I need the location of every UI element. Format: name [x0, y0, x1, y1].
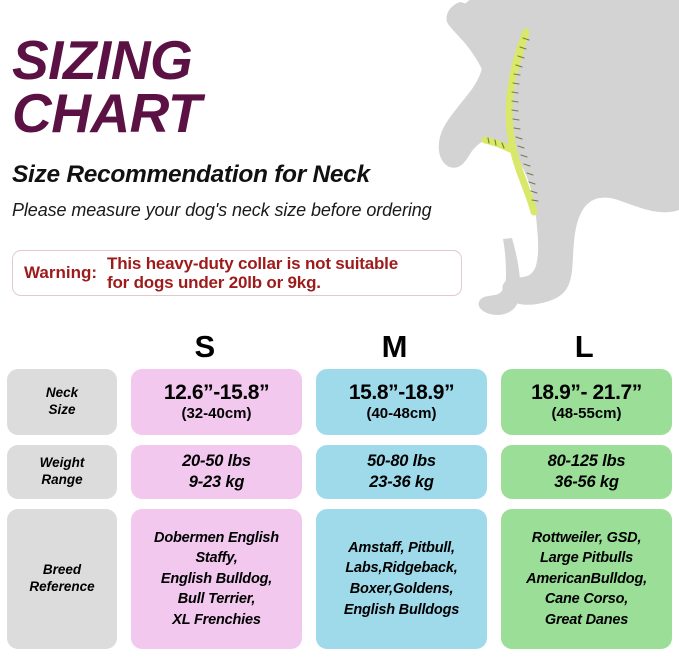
- sizing-table: Neck Size 12.6”-15.8” (32-40cm) 15.8”-18…: [0, 369, 679, 659]
- size-header-spacer: [0, 331, 110, 365]
- weight-m-kg: 23-36 kg: [369, 472, 433, 493]
- measuring-tape-icon: [485, 32, 538, 212]
- table-row-breed-reference: Breed Reference Dobermen English Staffy,…: [0, 509, 679, 649]
- page-subtitle: Size Recommendation for Neck: [12, 161, 482, 189]
- breed-s-line-4: Bull Terrier,: [178, 589, 255, 610]
- breed-s-line-5: XL Frenchies: [172, 610, 260, 631]
- sizing-chart-page: SIZING CHART Size Recommendation for Nec…: [0, 0, 679, 672]
- breed-l-line-3: AmericanBulldog,: [526, 569, 647, 590]
- page-title-line2: CHART: [12, 87, 482, 140]
- breed-s-line-2: Staffy,: [195, 548, 237, 569]
- neck-size-l-inches: 18.9”- 21.7”: [531, 382, 642, 404]
- row-label-breed-line2: Reference: [29, 579, 94, 596]
- size-header-l: L: [496, 331, 672, 365]
- page-header: SIZING CHART Size Recommendation for Nec…: [12, 34, 482, 221]
- weight-l-kg: 36-56 kg: [554, 472, 618, 493]
- breed-m-line-2: Labs,Ridgeback,: [345, 558, 457, 579]
- table-row-weight-range: Weight Range 20-50 lbs 9-23 kg 50-80 lbs…: [0, 445, 679, 499]
- neck-size-m-inches: 15.8”-18.9”: [349, 382, 454, 404]
- weight-s-lbs: 20-50 lbs: [182, 451, 251, 472]
- cell-neck-size-m: 15.8”-18.9” (40-48cm): [316, 369, 487, 435]
- breed-l-line-1: Rottweiler, GSD,: [532, 528, 642, 549]
- breed-l-line-2: Large Pitbulls: [540, 548, 633, 569]
- breed-m-line-3: Boxer,Goldens,: [350, 579, 454, 600]
- breed-l-line-5: Great Danes: [545, 610, 628, 631]
- neck-size-s-inches: 12.6”-15.8”: [164, 382, 269, 404]
- breed-m-line-1: Amstaff, Pitbull,: [348, 538, 455, 559]
- cell-weight-range-s: 20-50 lbs 9-23 kg: [131, 445, 302, 499]
- row-label-weight-line1: Weight: [40, 455, 85, 472]
- measure-instruction-text: Please measure your dog's neck size befo…: [12, 200, 482, 221]
- size-header-m: M: [307, 331, 483, 365]
- cell-neck-size-l: 18.9”- 21.7” (48-55cm): [501, 369, 672, 435]
- row-label-breed-reference: Breed Reference: [7, 509, 117, 649]
- row-label-weight-line2: Range: [40, 472, 85, 489]
- warning-message-line2: for dogs under 20lb or 9kg.: [107, 273, 398, 292]
- cell-neck-size-s: 12.6”-15.8” (32-40cm): [131, 369, 302, 435]
- table-row-neck-size: Neck Size 12.6”-15.8” (32-40cm) 15.8”-18…: [0, 369, 679, 435]
- warning-message: This heavy-duty collar is not suitable f…: [107, 254, 398, 292]
- breed-s-line-1: Dobermen English: [154, 528, 279, 549]
- warning-message-line1: This heavy-duty collar is not suitable: [107, 254, 398, 273]
- size-header-s: S: [117, 331, 293, 365]
- neck-size-m-cm: (40-48cm): [366, 405, 436, 422]
- breed-s-line-3: English Bulldog,: [161, 569, 272, 590]
- size-header-row: S M L: [0, 331, 679, 365]
- page-title-line1: SIZING: [12, 34, 482, 87]
- row-label-weight-range: Weight Range: [7, 445, 117, 499]
- row-label-neck-line1: Neck: [46, 385, 78, 402]
- weight-l-lbs: 80-125 lbs: [548, 451, 626, 472]
- breed-m-line-4: English Bulldogs: [344, 600, 459, 621]
- row-label-breed-line1: Breed: [29, 562, 94, 579]
- warning-box: Warning: This heavy-duty collar is not s…: [12, 250, 462, 296]
- warning-label: Warning:: [13, 263, 107, 283]
- row-label-neck-size: Neck Size: [7, 369, 117, 435]
- cell-weight-range-l: 80-125 lbs 36-56 kg: [501, 445, 672, 499]
- weight-m-lbs: 50-80 lbs: [367, 451, 436, 472]
- cell-breed-reference-l: Rottweiler, GSD, Large Pitbulls American…: [501, 509, 672, 649]
- neck-size-l-cm: (48-55cm): [551, 405, 621, 422]
- cell-weight-range-m: 50-80 lbs 23-36 kg: [316, 445, 487, 499]
- cell-breed-reference-s: Dobermen English Staffy, English Bulldog…: [131, 509, 302, 649]
- row-label-neck-line2: Size: [46, 402, 78, 419]
- cell-breed-reference-m: Amstaff, Pitbull, Labs,Ridgeback, Boxer,…: [316, 509, 487, 649]
- breed-l-line-4: Cane Corso,: [545, 589, 628, 610]
- neck-size-s-cm: (32-40cm): [181, 405, 251, 422]
- weight-s-kg: 9-23 kg: [189, 472, 244, 493]
